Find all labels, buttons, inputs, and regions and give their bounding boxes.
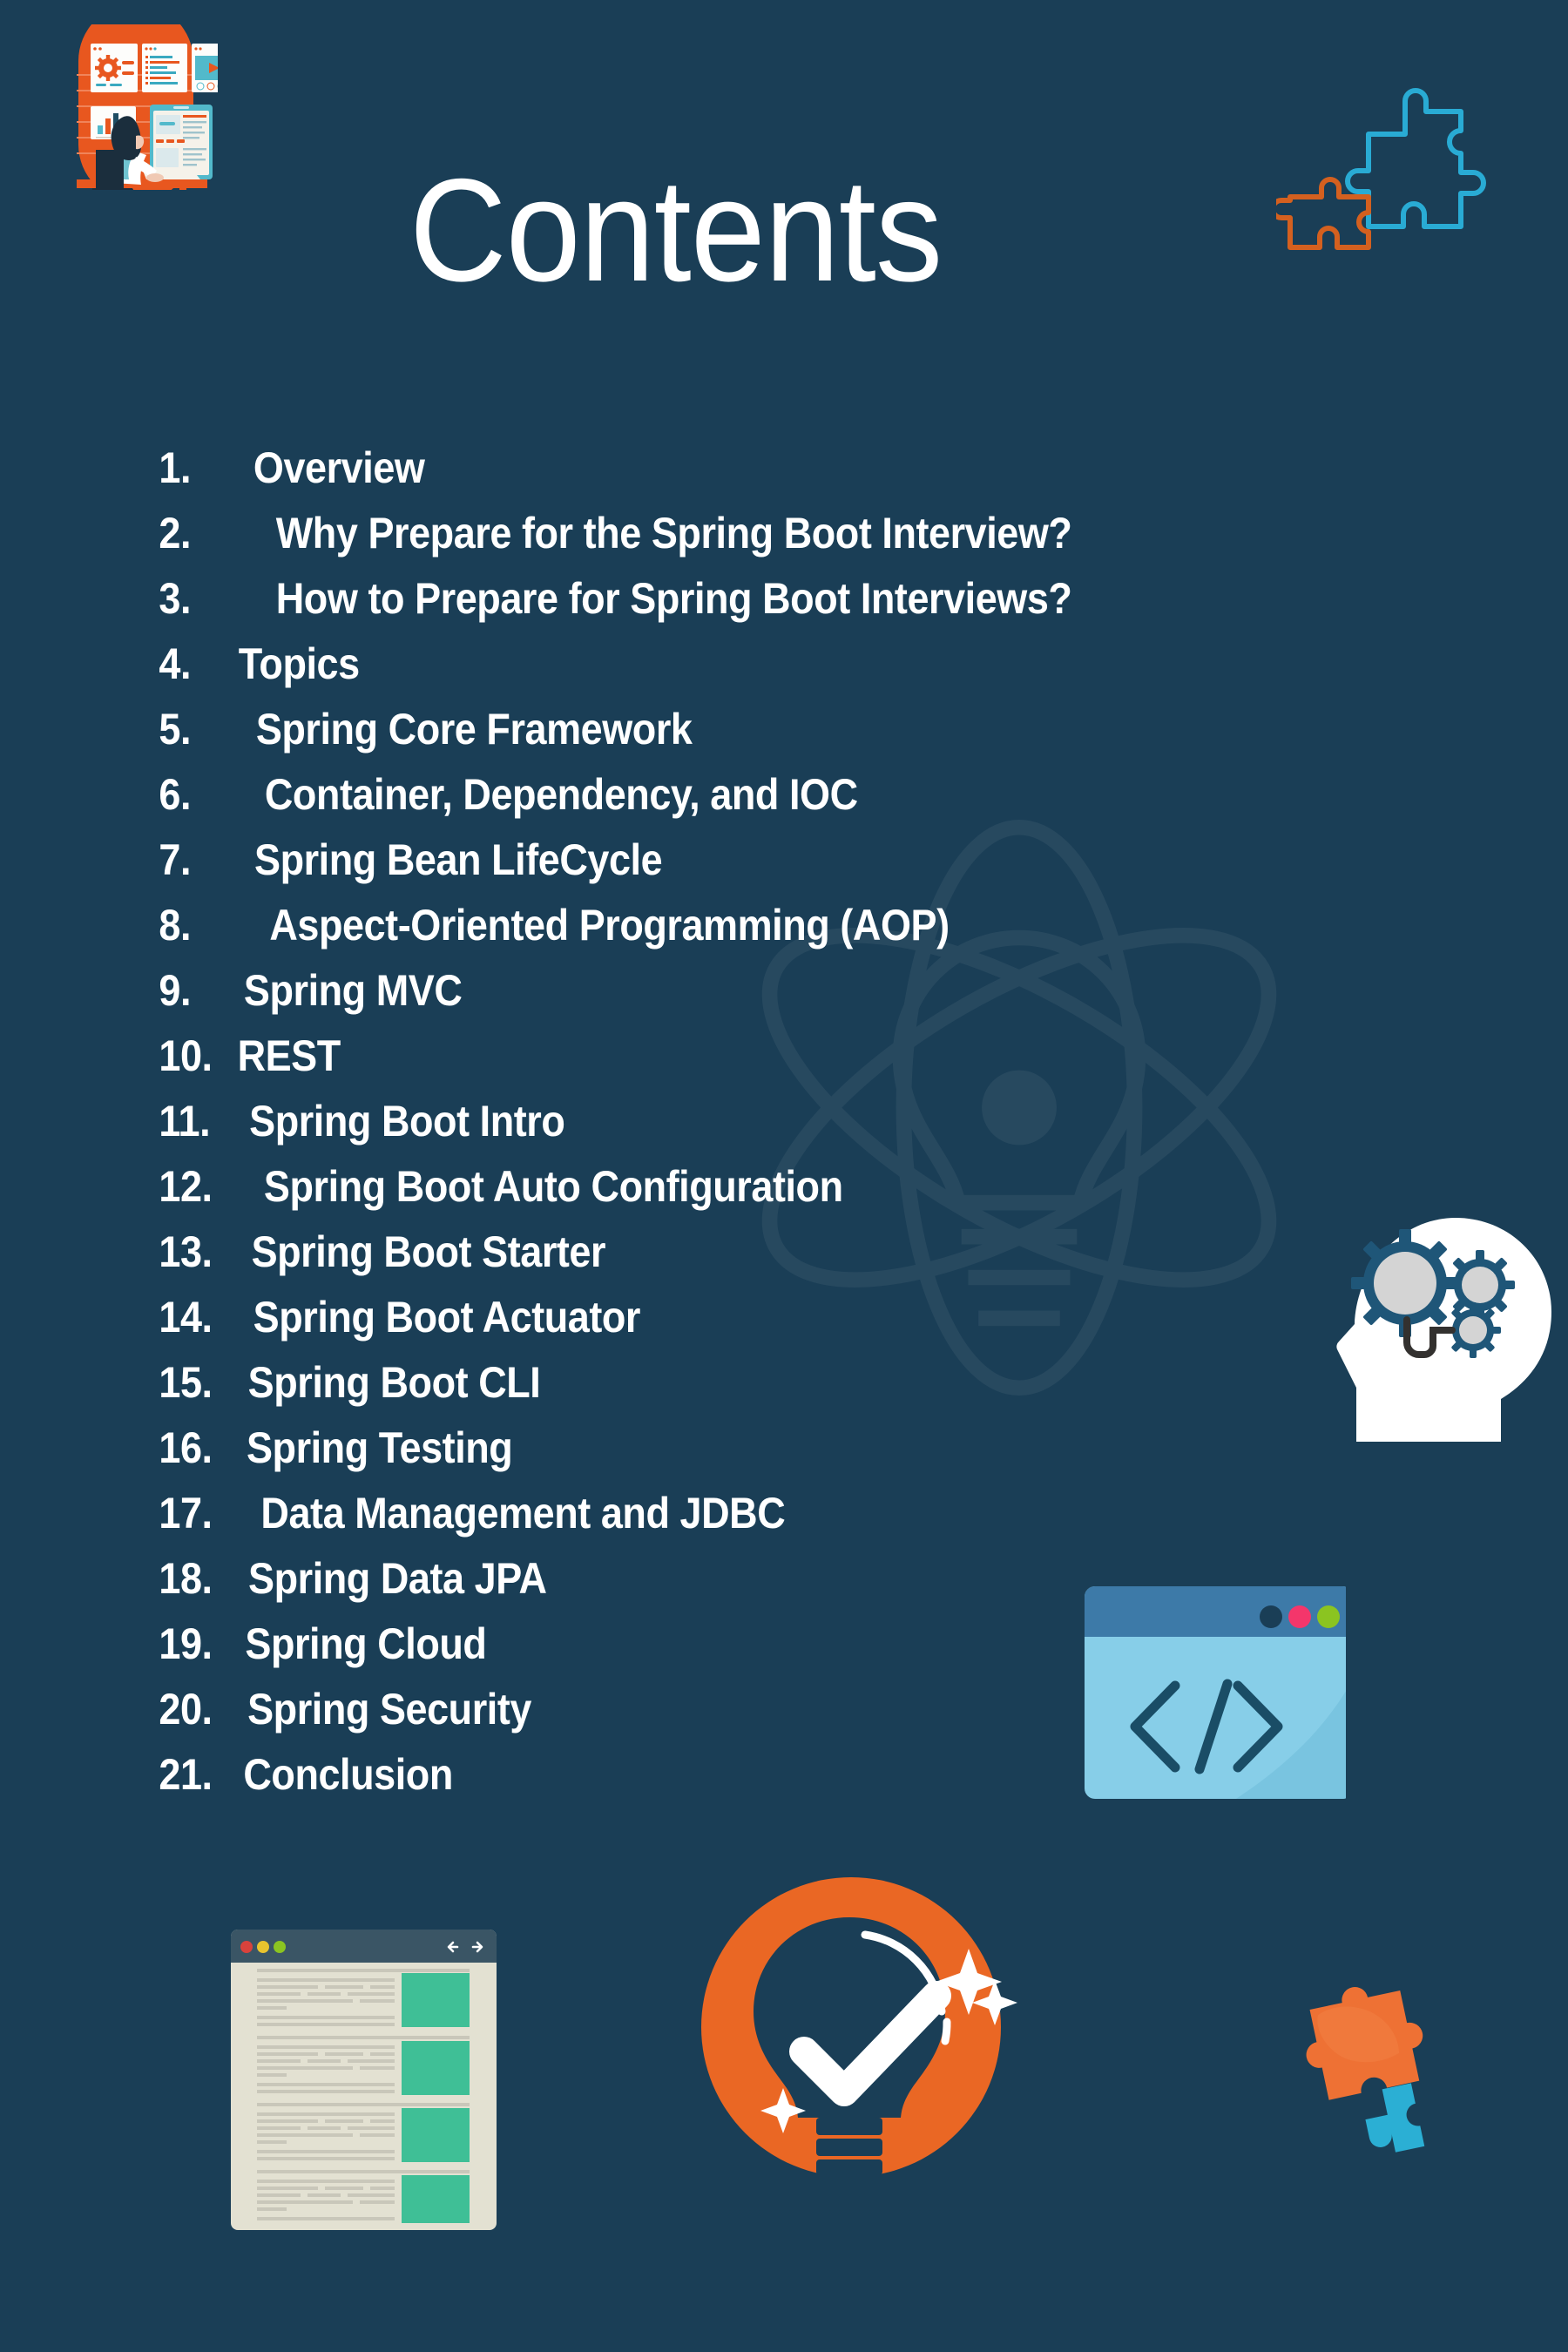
contents-item-number: 4. [159, 639, 227, 689]
contents-item[interactable]: 16.Spring Testing [155, 1423, 1462, 1488]
contents-item[interactable]: 8.Aspect-Oriented Programming (AOP) [155, 900, 1462, 965]
contents-item-label: Spring Security [247, 1684, 531, 1734]
contents-item-label: Data Management and JDBC [260, 1488, 785, 1538]
contents-item-number: 11. [159, 1096, 227, 1146]
developer-workstation-illustration [52, 24, 218, 190]
contents-item-label: Spring Boot Actuator [253, 1292, 640, 1342]
contents-item[interactable]: 13.Spring Boot Starter [155, 1227, 1462, 1292]
contents-item-number: 2. [159, 508, 227, 558]
gear-card-icon [90, 44, 138, 92]
contents-item[interactable]: 3.How to Prepare for Spring Boot Intervi… [155, 573, 1462, 639]
contents-item-number: 15. [159, 1357, 227, 1408]
contents-item-number: 10. [159, 1031, 227, 1081]
contents-item-label: Spring Boot Auto Configuration [264, 1161, 843, 1212]
contents-item-number: 18. [159, 1553, 227, 1604]
puzzle-pieces-solid-icon [1276, 1956, 1477, 2156]
contents-item[interactable]: 4.Topics [155, 639, 1462, 704]
browser-article-mockup-icon [231, 1930, 497, 2230]
contents-item[interactable]: 12.Spring Boot Auto Configuration [155, 1161, 1462, 1227]
browser-dot-green [274, 1941, 286, 1953]
contents-item-number: 17. [159, 1488, 227, 1538]
contents-item-number: 21. [159, 1749, 227, 1800]
contents-item[interactable]: 17.Data Management and JDBC [155, 1488, 1462, 1553]
contents-item-label: Spring Boot Intro [249, 1096, 564, 1146]
contents-page: Contents 1.Overview2.Why Prepare for the… [0, 0, 1568, 2352]
puzzle-pieces-outline-icon [1276, 42, 1538, 277]
contents-item-label: REST [238, 1031, 341, 1081]
contents-item-label: Spring Data JPA [248, 1553, 546, 1604]
contents-item-number: 20. [159, 1684, 227, 1734]
contents-item-label: Why Prepare for the Spring Boot Intervie… [276, 508, 1072, 558]
contents-item[interactable]: 2.Why Prepare for the Spring Boot Interv… [155, 508, 1462, 573]
contents-item-label: How to Prepare for Spring Boot Interview… [276, 573, 1072, 624]
contents-item-number: 16. [159, 1423, 227, 1473]
contents-item-label: Spring Core Framework [256, 704, 693, 754]
contents-item-number: 19. [159, 1619, 227, 1669]
contents-item[interactable]: 14.Spring Boot Actuator [155, 1292, 1462, 1357]
contents-item[interactable]: 10.REST [155, 1031, 1462, 1096]
video-card-icon [192, 44, 218, 92]
contents-item-number: 14. [159, 1292, 227, 1342]
page-title: Contents [409, 157, 942, 303]
browser-dot-yellow [257, 1941, 269, 1953]
contents-item[interactable]: 5.Spring Core Framework [155, 704, 1462, 769]
contents-item[interactable]: 11.Spring Boot Intro [155, 1096, 1462, 1161]
contents-item-label: Conclusion [243, 1749, 452, 1800]
contents-item[interactable]: 6.Container, Dependency, and IOC [155, 769, 1462, 835]
window-dot-green [1317, 1605, 1340, 1628]
contents-item-label: Topics [239, 639, 360, 689]
contents-item-number: 12. [159, 1161, 227, 1212]
contents-item-number: 3. [159, 573, 227, 624]
contents-item[interactable]: 1.Overview [155, 443, 1462, 508]
contents-item-label: Aspect-Oriented Programming (AOP) [269, 900, 949, 950]
monitor-icon [150, 105, 213, 179]
contents-item-number: 9. [159, 965, 227, 1016]
contents-item-number: 7. [159, 835, 227, 885]
contents-item-number: 13. [159, 1227, 227, 1277]
lightbulb-check-icon [666, 1842, 1032, 2208]
contents-item-label: Spring Boot Starter [252, 1227, 605, 1277]
contents-item-label: Spring Testing [247, 1423, 512, 1473]
window-dot-pink [1288, 1605, 1311, 1628]
brain-gears-icon [1302, 1180, 1555, 1442]
contents-item-label: Container, Dependency, and IOC [265, 769, 858, 820]
contents-item-number: 1. [159, 443, 227, 493]
contents-item-label: Spring Boot CLI [248, 1357, 541, 1408]
contents-item[interactable]: 15.Spring Boot CLI [155, 1357, 1462, 1423]
window-dot-dark [1260, 1605, 1282, 1628]
contents-item[interactable]: 7.Spring Bean LifeCycle [155, 835, 1462, 900]
code-window-icon [1050, 1546, 1346, 1799]
code-list-card-icon [142, 44, 187, 92]
contents-item-label: Overview [253, 443, 425, 493]
contents-item[interactable]: 9.Spring MVC [155, 965, 1462, 1031]
browser-dot-red [240, 1941, 253, 1953]
contents-item-number: 6. [159, 769, 227, 820]
contents-item-number: 8. [159, 900, 227, 950]
contents-item-label: Spring MVC [244, 965, 462, 1016]
contents-item-label: Spring Cloud [245, 1619, 486, 1669]
contents-item-label: Spring Bean LifeCycle [254, 835, 662, 885]
contents-item-number: 5. [159, 704, 227, 754]
